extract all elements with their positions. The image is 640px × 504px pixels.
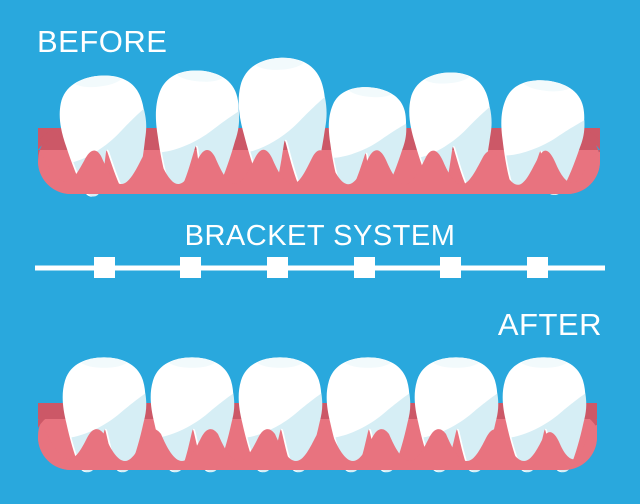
label-after: AFTER (498, 309, 602, 340)
label-before: BEFORE (37, 26, 167, 57)
bracket-6 (527, 257, 548, 278)
bracket-1 (94, 257, 115, 278)
bracket-5 (440, 257, 461, 278)
dental-illustration (0, 0, 640, 504)
bracket-3 (267, 257, 288, 278)
bracket-4 (354, 257, 375, 278)
bracket-2 (180, 257, 201, 278)
label-bracket-system: BRACKET SYSTEM (0, 222, 640, 251)
infographic-canvas: BEFORE BRACKET SYSTEM AFTER (0, 0, 640, 504)
